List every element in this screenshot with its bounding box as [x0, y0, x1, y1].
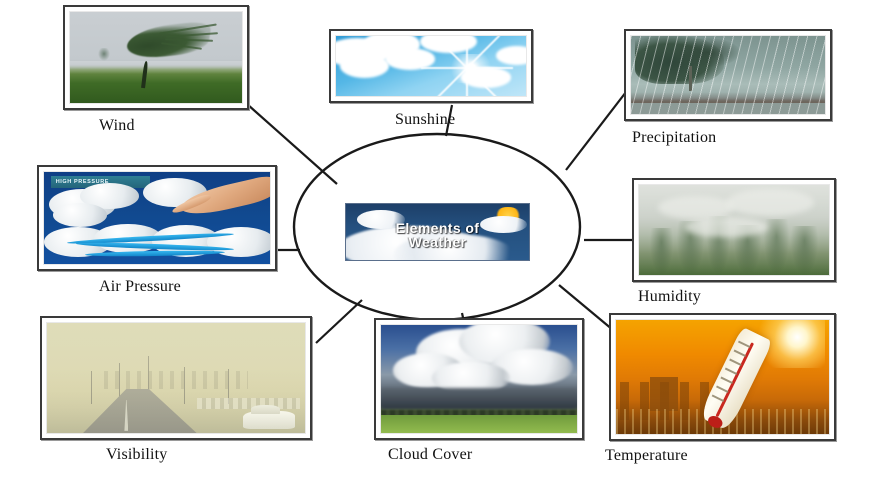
temperature-image	[615, 319, 830, 435]
connector-precipitation	[566, 92, 626, 170]
precipitation-photo-frame[interactable]	[624, 29, 832, 121]
humidity-photo-frame[interactable]	[632, 178, 836, 282]
wind-label: Wind	[99, 117, 135, 135]
temperature-photo-frame[interactable]	[609, 313, 836, 441]
precipitation-image	[630, 35, 826, 115]
wind-photo-frame[interactable]	[63, 5, 249, 110]
node-center: Elements of Weather	[345, 203, 530, 261]
hub-title-line-1: Elements of	[346, 221, 529, 236]
visibility-label: Visibility	[106, 446, 168, 464]
humidity-label: Humidity	[638, 288, 701, 306]
visibility-photo-frame[interactable]	[40, 316, 312, 440]
air-pressure-label: Air Pressure	[99, 278, 181, 296]
visibility-image	[46, 322, 306, 434]
sunshine-label: Sunshine	[395, 111, 455, 129]
connector-visibility	[316, 300, 362, 343]
sunshine-photo-frame[interactable]	[329, 29, 533, 103]
cloud-cover-photo-frame[interactable]	[374, 318, 584, 440]
weather-elements-diagram: Elements of Weather Wind	[0, 0, 870, 490]
precipitation-label: Precipitation	[632, 129, 716, 147]
cloud-cover-label: Cloud Cover	[388, 446, 472, 464]
cloud-cover-image	[380, 324, 578, 434]
sunshine-image	[335, 35, 527, 97]
center-hub-image: Elements of Weather	[345, 203, 530, 261]
wind-image	[69, 11, 243, 104]
temperature-label: Temperature	[605, 447, 688, 465]
air-pressure-image: HIGH PRESSURE	[43, 171, 271, 265]
hub-title-line-2: Weather	[346, 235, 529, 250]
humidity-image	[638, 184, 830, 276]
air-pressure-photo-frame[interactable]: HIGH PRESSURE	[37, 165, 277, 271]
